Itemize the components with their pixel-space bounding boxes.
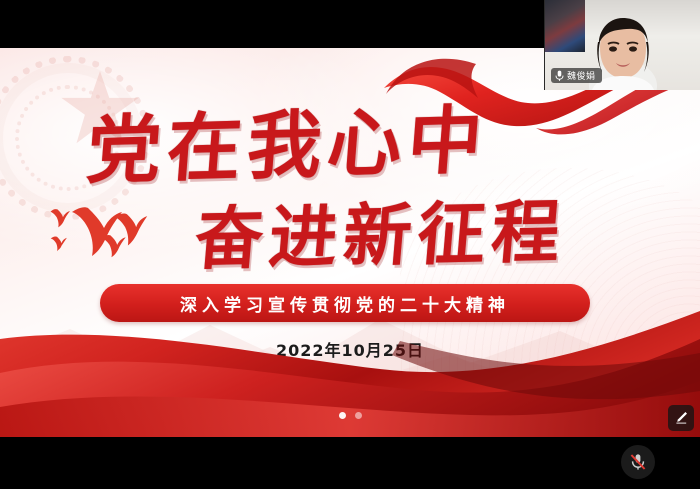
participant-name-label: 魏俊娟: [551, 68, 602, 83]
meeting-toolbar: [0, 437, 700, 489]
microphone-muted-icon: [628, 452, 648, 472]
slide-pagination[interactable]: [0, 412, 700, 419]
pagination-dot-1[interactable]: [339, 412, 346, 419]
participant-name-text: 魏俊娟: [567, 69, 596, 82]
mute-toggle-button[interactable]: [621, 445, 655, 479]
five-point-star-icon: [58, 66, 142, 150]
zoom-meeting-window: 党在我心中 奋进新征程 深入学习宣传贯彻党的二十大精神 2022年10月25日: [0, 0, 700, 489]
annotate-button[interactable]: [668, 405, 694, 431]
pen-annotate-icon: [673, 410, 689, 426]
participant-video-thumbnail[interactable]: 魏俊娟: [544, 0, 700, 90]
pagination-dot-2[interactable]: [355, 412, 362, 419]
microphone-icon: [555, 70, 564, 81]
flying-doves-icon: [46, 194, 172, 266]
shared-screen-slide[interactable]: 党在我心中 奋进新征程 深入学习宣传贯彻党的二十大精神 2022年10月25日: [0, 48, 700, 437]
